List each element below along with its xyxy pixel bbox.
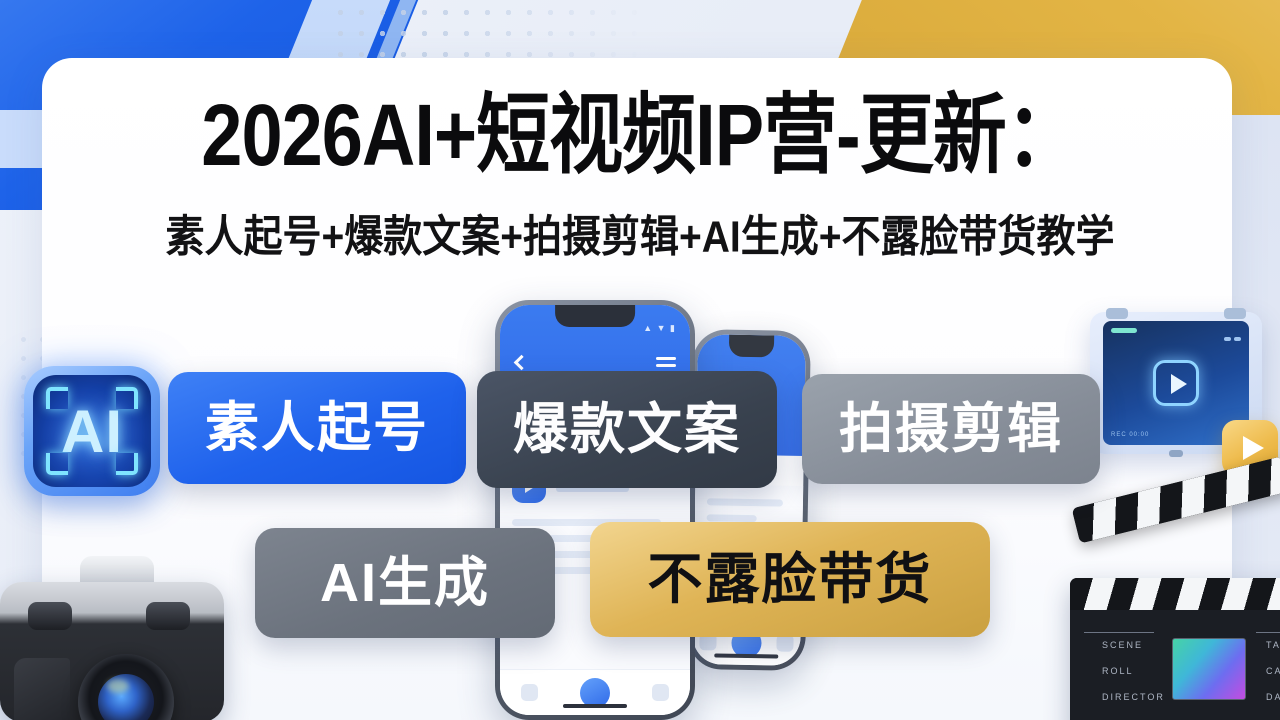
ai-scan-badge-icon: AI [24, 366, 160, 496]
slate-field-take: TAKE [1266, 640, 1280, 650]
feature-pill-ai-shengcheng[interactable]: AI生成 [255, 528, 555, 638]
scan-bracket-top-left-icon [46, 387, 68, 409]
camera-lens [78, 654, 174, 720]
content-bar [707, 514, 758, 522]
camera-dial-right [146, 602, 190, 630]
feature-pill-baokuan-wenan[interactable]: 爆款文案 [477, 371, 777, 488]
monitor-meta: REC 00:00 [1111, 432, 1149, 438]
monitor-knob-right [1224, 308, 1246, 319]
camera-dial-left [28, 602, 72, 630]
slate-field-date: DATE [1266, 692, 1280, 702]
slate-field-scene: SCENE [1102, 640, 1143, 650]
clapper-slate: SCENE TAKE ROLL CAMERA DIRECTOR DATE [1080, 620, 1280, 720]
scan-bracket-top-right-icon [116, 387, 138, 409]
headline-block: 2026AI+短视频IP营-更新： [0, 92, 1280, 166]
feature-pill-suren-qihao[interactable]: 素人起号 [168, 372, 466, 484]
phone-notch [555, 305, 635, 327]
nav-icon-home[interactable] [521, 684, 538, 701]
home-indicator [563, 704, 627, 708]
page-title: 2026AI+短视频IP营-更新： [0, 92, 1280, 179]
clapper-board: SCENE TAKE ROLL CAMERA DIRECTOR DATE [1070, 578, 1280, 720]
nav-icon-profile[interactable] [652, 684, 669, 701]
camera-grip [14, 658, 70, 720]
slate-field-roll: ROLL [1102, 666, 1134, 676]
ai-badge-label: AI [61, 397, 123, 466]
clapper-preview-panel [1172, 638, 1246, 700]
dslr-camera-photo [0, 540, 232, 720]
slate-field-director: DIRECTOR [1102, 692, 1165, 702]
status-bar-signal: ▲ ▼ ▮ [643, 323, 676, 334]
battery-icon [1221, 328, 1241, 346]
clapper-stripes [1070, 578, 1280, 610]
monitor-knob-left [1106, 308, 1128, 319]
dot-grid-pattern-top [330, 2, 660, 60]
phone-screen: ▲ ▼ ▮ [500, 305, 690, 715]
rec-indicator-icon [1111, 328, 1137, 333]
play-icon[interactable] [1153, 360, 1199, 406]
feature-pill-buloulian-daihuo[interactable]: 不露脸带货 [590, 522, 990, 637]
scan-bracket-bottom-left-icon [46, 453, 68, 475]
page-subtitle: 素人起号+爆款文案+拍摄剪辑+AI生成+不露脸带货教学 [0, 216, 1280, 260]
lens-flare [107, 679, 129, 693]
film-clapperboard: SCENE TAKE ROLL CAMERA DIRECTOR DATE [1012, 500, 1280, 720]
content-bar [707, 498, 783, 506]
chevron-left-icon[interactable] [514, 355, 530, 371]
camera-body [0, 582, 224, 720]
smartphone-front-mockup: ▲ ▼ ▮ [495, 300, 695, 720]
ai-badge-inner: AI [33, 375, 151, 487]
feature-pill-paishe-jianji[interactable]: 拍摄剪辑 [802, 374, 1100, 484]
monitor-lens [1169, 450, 1183, 457]
nav-icon-record[interactable] [580, 678, 610, 708]
nav-icon-profile[interactable] [776, 634, 793, 651]
slate-field-camera: CAMERA [1266, 666, 1280, 676]
phone-bottom-nav[interactable] [500, 669, 690, 715]
scan-bracket-bottom-right-icon [116, 453, 138, 475]
phone-notch [729, 335, 775, 358]
promo-poster: 2026AI+短视频IP营-更新： 素人起号+爆款文案+拍摄剪辑+AI生成+不露… [0, 0, 1280, 720]
